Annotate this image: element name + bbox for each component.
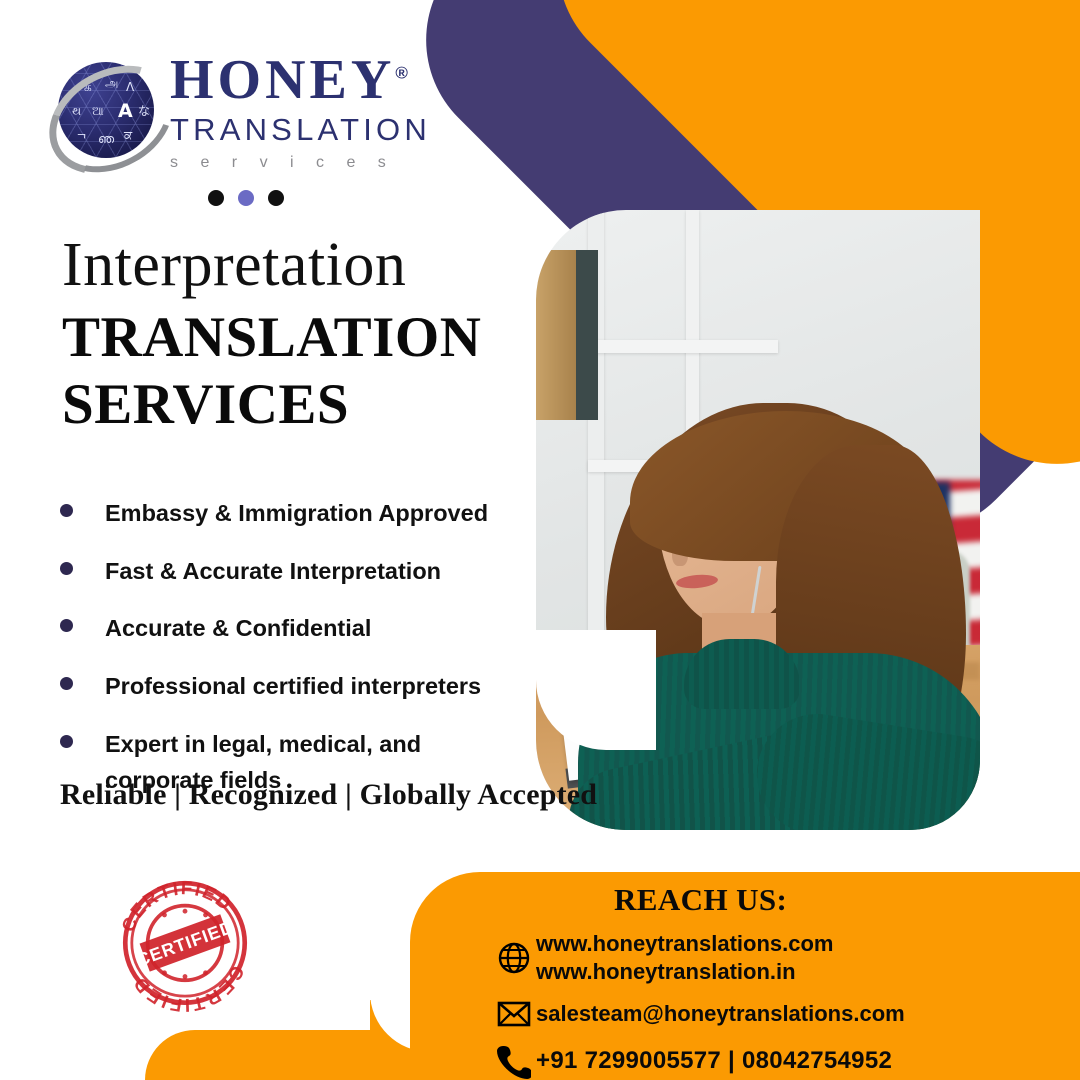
heading-main-line-1: TRANSLATION (62, 305, 481, 372)
tagline: Reliable | Recognized | Globally Accepte… (60, 778, 597, 812)
turtleneck-collar (684, 639, 800, 709)
phone-icon (492, 1043, 536, 1079)
logo-name-translation: TRANSLATION (170, 112, 431, 148)
list-item-label: Fast & Accurate Interpretation (105, 553, 441, 590)
brand-logo[interactable]: க அ ᐱ થ ଆ A ᄀ ഞ ਕ な HONEY® TRANSLATION s… (52, 46, 452, 176)
website-line-1: www.honeytranslations.com (536, 930, 833, 958)
dot-3 (268, 190, 284, 206)
registered-mark-icon: ® (395, 63, 412, 82)
contact-email-text: salesteam@honeytranslations.com (536, 1000, 905, 1028)
bullet-icon (60, 735, 73, 748)
bullet-icon (60, 619, 73, 632)
website-line-2: www.honeytranslation.in (536, 958, 833, 986)
list-item: Professional certified interpreters (54, 668, 524, 705)
contact-heading: REACH US: (614, 882, 787, 918)
logo-name-honey: HONEY® (170, 52, 431, 108)
stamp-arc-bottom: CERTIFIED (128, 963, 249, 1012)
envelope-icon (492, 999, 536, 1029)
decorative-dots (208, 190, 284, 206)
shelf-horizontal-1 (588, 340, 778, 353)
logo-honey-text: HONEY (170, 49, 395, 111)
list-item: Accurate & Confidential (54, 610, 524, 647)
feature-list: Embassy & Immigration Approved Fast & Ac… (54, 495, 524, 820)
globe-icon (492, 940, 536, 976)
svg-text:CERTIFIED: CERTIFIED (128, 963, 249, 1012)
contact-details: www.honeytranslations.com www.honeytrans… (492, 930, 1080, 1080)
interpreter-person (606, 385, 966, 830)
heading-main-line-2: SERVICES (62, 372, 481, 439)
globe-languages-icon: க அ ᐱ થ ଆ A ᄀ ഞ ਕ な (52, 56, 160, 164)
poster-canvas: க அ ᐱ થ ଆ A ᄀ ഞ ਕ な HONEY® TRANSLATION s… (0, 0, 1080, 1080)
logo-name-services: s e r v i c e s (170, 154, 431, 172)
list-item: Embassy & Immigration Approved (54, 495, 524, 532)
logo-wordmark: HONEY® TRANSLATION s e r v i c e s (170, 52, 431, 172)
list-item-label: Professional certified interpreters (105, 668, 481, 705)
contact-website-text: www.honeytranslations.com www.honeytrans… (536, 930, 833, 985)
dot-1 (208, 190, 224, 206)
list-item: Fast & Accurate Interpretation (54, 553, 524, 590)
dot-2-accent (238, 190, 254, 206)
bullet-icon (60, 562, 73, 575)
bullet-icon (60, 504, 73, 517)
email-line: salesteam@honeytranslations.com (536, 1000, 905, 1028)
contact-row-phone[interactable]: +91 7299005577 | 08042754952 (492, 1043, 1080, 1079)
heading-main: TRANSLATION SERVICES (62, 305, 481, 438)
contact-row-email[interactable]: salesteam@honeytranslations.com (492, 999, 1080, 1029)
list-item-label: Embassy & Immigration Approved (105, 495, 488, 532)
list-item-label: Accurate & Confidential (105, 610, 371, 647)
heading-script: Interpretation (62, 234, 406, 296)
book-spine-b (576, 250, 598, 420)
phone-line: +91 7299005577 | 08042754952 (536, 1046, 892, 1076)
contact-phone-text: +91 7299005577 | 08042754952 (536, 1046, 892, 1076)
certified-stamp-icon: CERTIFIED CERTIFIED CERTIFIED (106, 872, 264, 1012)
book-spine-a (536, 250, 576, 420)
bullet-icon (60, 677, 73, 690)
contact-row-website[interactable]: www.honeytranslations.com www.honeytrans… (492, 930, 1080, 985)
